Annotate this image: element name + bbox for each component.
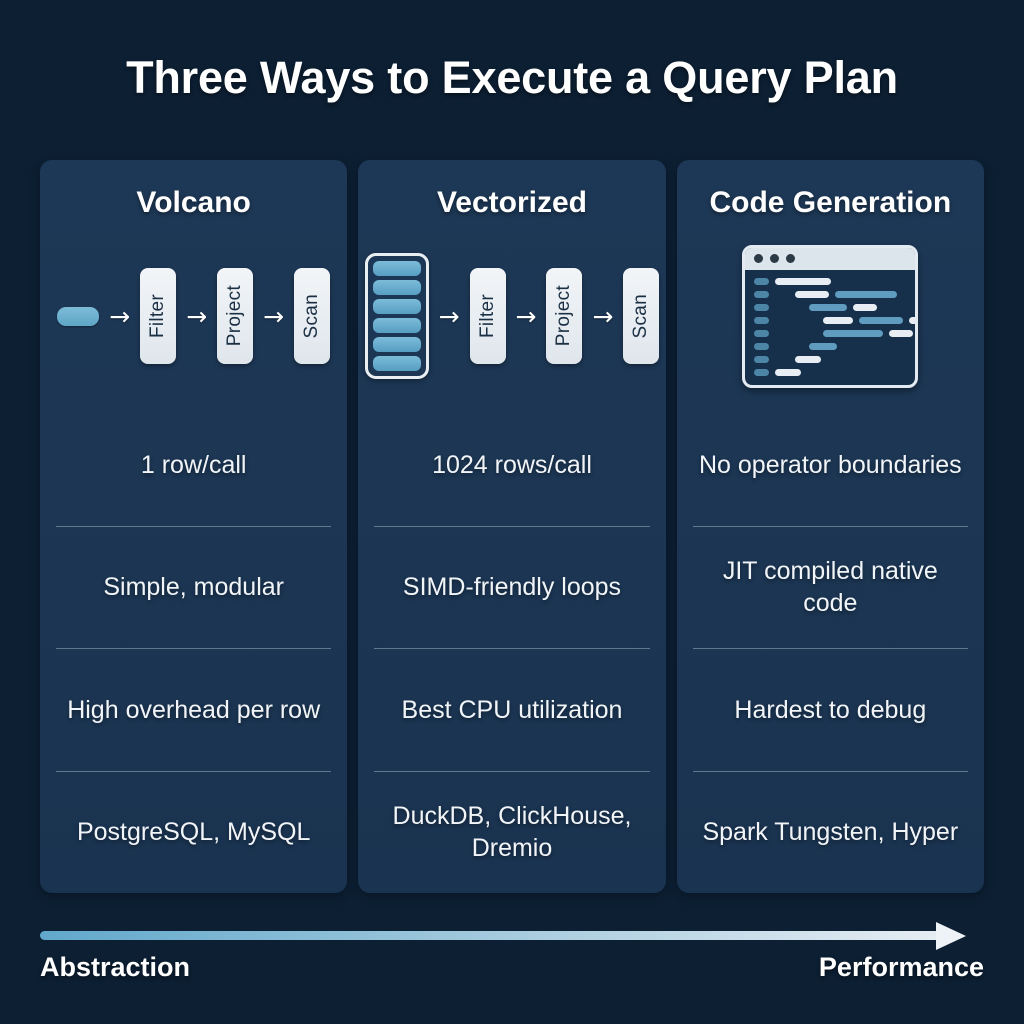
arrow-right-icon: →: [516, 304, 537, 329]
axis-bar: [40, 931, 940, 940]
fact-item: DuckDB, ClickHouse, Dremio: [374, 771, 649, 894]
fact-item: PostgreSQL, MySQL: [56, 771, 331, 894]
pipeline-diagram-volcano: → Filter → Project → Scan: [40, 228, 347, 404]
code-token-bar: [853, 304, 877, 311]
window-dot-icon: [770, 254, 779, 263]
fact-list: 1 row/call Simple, modular High overhead…: [40, 404, 347, 893]
window-titlebar: [745, 248, 915, 270]
pipeline-diagram-vectorized: → Filter → Project → Scan: [358, 228, 665, 404]
operator-label: Scan: [301, 294, 323, 339]
fact-item: Best CPU utilization: [374, 648, 649, 771]
code-token-bar: [809, 304, 847, 311]
fact-item: SIMD-friendly loops: [374, 526, 649, 649]
line-number-chip: [754, 343, 769, 350]
arrow-right-icon: [936, 922, 966, 950]
code-line: [754, 330, 906, 337]
operator-box-scan: Scan: [294, 268, 330, 364]
operator-label: Project: [553, 285, 575, 346]
code-line: [754, 278, 906, 285]
line-number-chip: [754, 317, 769, 324]
column-card-vectorized[interactable]: Vectorized → Filter → Project → Scan: [358, 160, 665, 893]
infographic-canvas: Three Ways to Execute a Query Plan Volca…: [0, 0, 1024, 1024]
operator-label: Filter: [147, 294, 169, 338]
operator-box-filter: Filter: [140, 268, 176, 364]
axis-label-right: Performance: [819, 952, 984, 983]
axis-label-row: Abstraction Performance: [40, 952, 984, 983]
arrow-right-icon: →: [186, 304, 207, 329]
code-token-bar: [823, 330, 883, 337]
line-number-chip: [754, 304, 769, 311]
arrow-right-icon: →: [592, 304, 613, 329]
operator-label: Scan: [630, 294, 652, 339]
code-token-bar: [795, 291, 829, 298]
code-token-bar: [809, 343, 837, 350]
fact-list: 1024 rows/call SIMD-friendly loops Best …: [358, 404, 665, 893]
operator-box-project: Project: [217, 268, 253, 364]
fact-item: Hardest to debug: [693, 648, 968, 771]
code-token-bar: [775, 278, 831, 285]
fact-item: No operator boundaries: [693, 404, 968, 526]
code-token-bar: [889, 330, 913, 337]
column-card-code-generation[interactable]: Code Generation No operator boundaries J…: [677, 160, 984, 893]
code-line: [754, 304, 906, 311]
line-number-chip: [754, 291, 769, 298]
fact-item: 1024 rows/call: [374, 404, 649, 526]
column-title: Code Generation: [709, 186, 951, 220]
code-window-icon: [742, 245, 918, 388]
code-line: [754, 356, 906, 363]
fact-item: 1 row/call: [56, 404, 331, 526]
column-title: Vectorized: [437, 186, 587, 220]
code-token-bar: [775, 369, 801, 376]
code-line: [754, 369, 906, 376]
page-title: Three Ways to Execute a Query Plan: [0, 52, 1024, 104]
line-number-chip: [754, 330, 769, 337]
comparison-columns: Volcano → Filter → Project → Scan: [40, 160, 984, 893]
line-number-chip: [754, 356, 769, 363]
code-token-bar: [795, 356, 821, 363]
batch-row: [373, 261, 421, 276]
batch-row: [373, 318, 421, 333]
operator-box-filter: Filter: [470, 268, 506, 364]
column-card-volcano[interactable]: Volcano → Filter → Project → Scan: [40, 160, 347, 893]
arrow-right-icon: →: [439, 304, 460, 329]
fact-item: JIT compiled native code: [693, 526, 968, 649]
operator-label: Filter: [477, 294, 499, 338]
batch-row: [373, 299, 421, 314]
line-number-chip: [754, 278, 769, 285]
code-token-bar: [909, 317, 918, 324]
window-dot-icon: [786, 254, 795, 263]
code-token-bar: [823, 317, 853, 324]
batch-row: [373, 337, 421, 352]
line-number-chip: [754, 369, 769, 376]
arrow-right-icon: →: [109, 304, 130, 329]
column-title: Volcano: [136, 186, 250, 220]
code-line: [754, 343, 906, 350]
code-token-bar: [859, 317, 903, 324]
fact-item: High overhead per row: [56, 648, 331, 771]
fact-list: No operator boundaries JIT compiled nati…: [677, 404, 984, 893]
tradeoff-axis: [40, 922, 984, 948]
single-row-pill-icon: [57, 307, 99, 326]
arrow-right-icon: →: [263, 304, 284, 329]
operator-box-project: Project: [546, 268, 582, 364]
code-token-bar: [835, 291, 897, 298]
operator-box-scan: Scan: [623, 268, 659, 364]
code-line: [754, 291, 906, 298]
pipeline-diagram-codegen: [677, 228, 984, 404]
batch-row: [373, 280, 421, 295]
fact-item: Simple, modular: [56, 526, 331, 649]
axis-label-left: Abstraction: [40, 952, 190, 983]
batch-row: [373, 356, 421, 371]
code-line: [754, 317, 906, 324]
operator-label: Project: [224, 285, 246, 346]
fact-item: Spark Tungsten, Hyper: [693, 771, 968, 894]
row-batch-icon: [365, 253, 429, 379]
code-lines: [745, 270, 915, 385]
window-dot-icon: [754, 254, 763, 263]
